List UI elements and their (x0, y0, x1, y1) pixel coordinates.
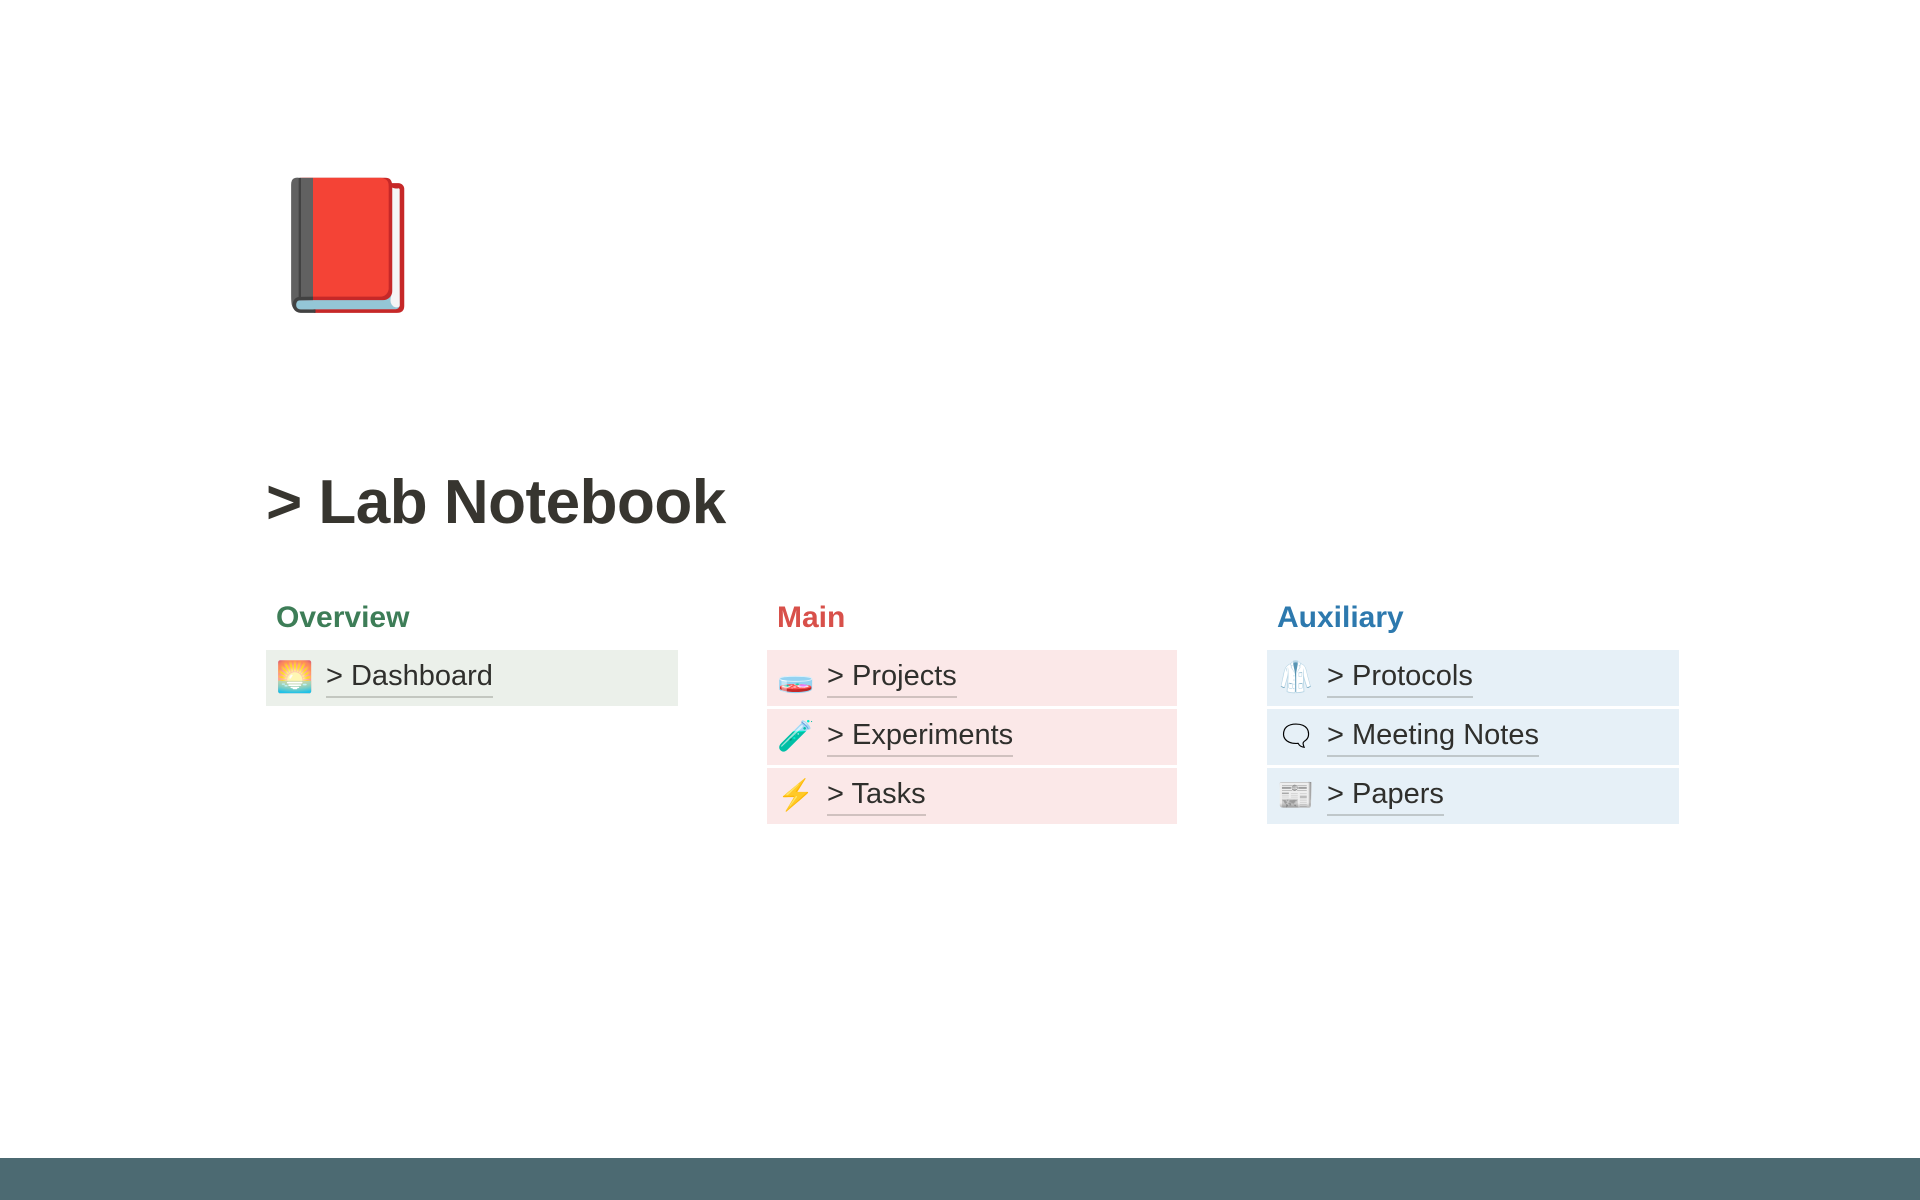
lab-coat-emoji: 🥼 (1277, 659, 1315, 697)
closed-book-emoji[interactable]: 📕 (268, 176, 408, 316)
nav-list-auxiliary: 🥼 > Protocols 🗨 > Meeting Notes 📰 > Pape… (1267, 650, 1679, 824)
high-voltage-emoji: ⚡ (777, 777, 815, 815)
nav-link-protocols[interactable]: > Protocols (1327, 659, 1473, 698)
nav-row-experiments[interactable]: 🧪 > Experiments (767, 709, 1177, 765)
column-heading-auxiliary: Auxiliary (1277, 600, 1679, 636)
nav-link-dashboard[interactable]: > Dashboard (326, 659, 493, 698)
column-main: Main 🧫 > Projects 🧪 > Experiments ⚡ > Ta… (767, 600, 1177, 827)
nav-link-meeting-notes[interactable]: > Meeting Notes (1327, 718, 1539, 757)
nav-list-overview: 🌅 > Dashboard (266, 650, 678, 706)
nav-link-projects[interactable]: > Projects (827, 659, 957, 698)
nav-row-protocols[interactable]: 🥼 > Protocols (1267, 650, 1679, 706)
column-overview: Overview 🌅 > Dashboard (266, 600, 678, 709)
petri-dish-emoji: 🧫 (777, 659, 815, 697)
nav-link-tasks[interactable]: > Tasks (827, 777, 926, 816)
nav-row-papers[interactable]: 📰 > Papers (1267, 768, 1679, 824)
nav-row-projects[interactable]: 🧫 > Projects (767, 650, 1177, 706)
sunrise-emoji: 🌅 (276, 659, 314, 697)
nav-row-meeting-notes[interactable]: 🗨 > Meeting Notes (1267, 709, 1679, 765)
lab-notebook-page: 📕 > Lab Notebook Overview 🌅 > Dashboard … (0, 0, 1920, 1200)
nav-link-experiments[interactable]: > Experiments (827, 718, 1013, 757)
column-heading-overview: Overview (276, 600, 678, 636)
column-heading-main: Main (777, 600, 1177, 636)
bottom-bar (0, 1158, 1920, 1200)
test-tube-emoji: 🧪 (777, 718, 815, 756)
column-auxiliary: Auxiliary 🥼 > Protocols 🗨 > Meeting Note… (1267, 600, 1679, 827)
newspaper-emoji: 📰 (1277, 777, 1315, 815)
dark-speech-balloon-emoji: 🗨 (1277, 718, 1315, 756)
nav-list-main: 🧫 > Projects 🧪 > Experiments ⚡ > Tasks (767, 650, 1177, 824)
nav-row-tasks[interactable]: ⚡ > Tasks (767, 768, 1177, 824)
nav-row-dashboard[interactable]: 🌅 > Dashboard (266, 650, 678, 706)
nav-link-papers[interactable]: > Papers (1327, 777, 1444, 816)
page-title: > Lab Notebook (266, 467, 726, 538)
